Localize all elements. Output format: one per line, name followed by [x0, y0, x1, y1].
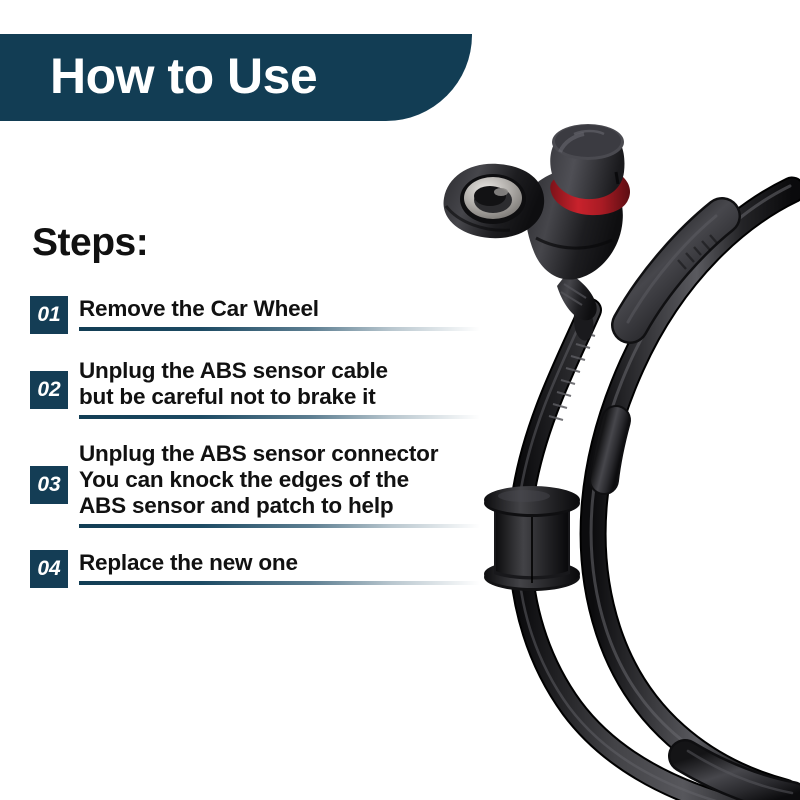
cable-inner — [520, 310, 792, 800]
cable-strain-relief-coil — [549, 332, 595, 420]
step-text-line: Unplug the ABS sensor cable — [79, 358, 480, 384]
step-number-badge: 04 — [30, 550, 68, 588]
mounting-eyelet-metal — [464, 177, 522, 219]
sensor-cap — [550, 127, 624, 199]
mounting-eyelet-hole — [474, 187, 512, 213]
sensor-body — [525, 168, 623, 279]
page-root: How to Use Steps: 01 Remove the Car Whee… — [0, 0, 800, 800]
cable-sleeve-mid — [604, 420, 616, 480]
sensor-neck — [574, 292, 594, 341]
step-item-03: 03 Unplug the ABS sensor connector You c… — [30, 441, 480, 528]
cable-inner-shadow — [520, 310, 792, 800]
step-text: Remove the Car Wheel — [79, 296, 480, 322]
sensor-flange-seam — [446, 206, 510, 230]
step-text: Replace the new one — [79, 550, 480, 576]
step-item-02: 02 Unplug the ABS sensor cable but be ca… — [30, 358, 480, 419]
step-underline — [79, 327, 480, 331]
step-text-line: Replace the new one — [79, 550, 480, 576]
sensor-cap-groove — [574, 131, 604, 134]
cable-inner-highlight — [517, 308, 789, 800]
abs-wheel-speed-sensor-photo — [440, 120, 800, 800]
step-text: Unplug the ABS sensor cable but be caref… — [79, 358, 480, 410]
step-underline — [79, 581, 480, 585]
sensor-body-seam — [536, 238, 612, 248]
cable-outer-highlight — [591, 186, 790, 789]
step-text-line: Remove the Car Wheel — [79, 296, 480, 322]
mounting-eyelet-gloss — [494, 188, 508, 196]
step-body: Unplug the ABS sensor cable but be caref… — [79, 358, 480, 419]
step-number-badge: 03 — [30, 466, 68, 504]
cable-grommet-clip — [484, 486, 580, 591]
step-number-badge: 01 — [30, 296, 68, 334]
step-item-04: 04 Replace the new one — [30, 550, 480, 588]
step-text-line: You can knock the edges of the — [79, 467, 480, 493]
steps-list: 01 Remove the Car Wheel 02 Unplug the AB… — [30, 296, 480, 588]
page-title: How to Use — [50, 51, 317, 105]
step-text-line: but be careful not to brake it — [79, 384, 480, 410]
sensor-strain-relief — [557, 272, 597, 320]
mounting-eyelet-bore — [474, 186, 506, 206]
cable-sleeve-upper — [628, 216, 722, 325]
mounting-eyelet-outer — [460, 174, 526, 224]
steps-heading: Steps: — [32, 223, 148, 262]
step-text-line: Unplug the ABS sensor connector — [79, 441, 480, 467]
cable-outer — [593, 190, 792, 792]
sensor-cap-top — [552, 124, 624, 160]
step-item-01: 01 Remove the Car Wheel — [30, 296, 480, 334]
sensor-cap-top-face — [555, 125, 621, 157]
step-text-line: ABS sensor and patch to help — [79, 493, 480, 519]
cable-outer-shadow — [593, 190, 792, 792]
step-text: Unplug the ABS sensor connector You can … — [79, 441, 480, 519]
step-underline — [79, 524, 480, 528]
sensor-mount-flange — [444, 164, 545, 238]
step-body: Remove the Car Wheel — [79, 296, 480, 331]
sensor-cap-vent — [616, 172, 618, 184]
step-underline — [79, 415, 480, 419]
step-number-badge: 02 — [30, 371, 68, 409]
o-ring-seal — [550, 166, 630, 215]
sensor-cap-highlight — [560, 134, 584, 152]
cable-sleeve-lower — [685, 751, 792, 798]
header-banner: How to Use — [0, 34, 472, 121]
step-body: Replace the new one — [79, 550, 480, 585]
step-body: Unplug the ABS sensor connector You can … — [79, 441, 480, 528]
